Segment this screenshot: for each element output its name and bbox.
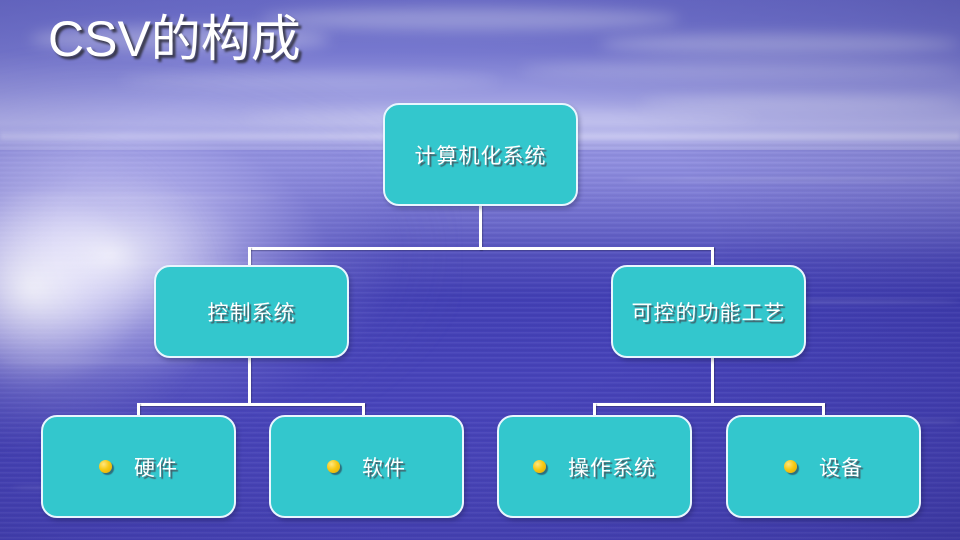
- bullet-dot-icon: [327, 460, 340, 473]
- bullet-dot-icon: [784, 460, 797, 473]
- bullet-dot-icon: [99, 460, 112, 473]
- node-control-system[interactable]: 控制系统: [154, 265, 349, 358]
- node-control-system-label: 控制系统: [208, 297, 296, 327]
- connector-control-stem: [248, 357, 251, 405]
- node-hardware-content: 硬件: [99, 452, 178, 482]
- connector-process-bus: [593, 403, 825, 406]
- node-equipment-label: 设备: [819, 452, 863, 482]
- node-hardware[interactable]: 硬件: [41, 415, 236, 518]
- node-operating-system-label: 操作系统: [568, 452, 656, 482]
- connector-process-stem: [711, 357, 714, 405]
- node-equipment-content: 设备: [784, 452, 863, 482]
- node-operating-system-content: 操作系统: [533, 452, 656, 482]
- page-title: CSV的构成: [48, 8, 301, 70]
- connector-control-bus: [137, 403, 365, 406]
- node-software-label: 软件: [362, 452, 406, 482]
- node-root[interactable]: 计算机化系统: [383, 103, 578, 206]
- node-software-content: 软件: [327, 452, 406, 482]
- node-operating-system[interactable]: 操作系统: [497, 415, 692, 518]
- node-software[interactable]: 软件: [269, 415, 464, 518]
- node-root-label: 计算机化系统: [415, 140, 547, 170]
- connector-root-stem: [479, 205, 482, 250]
- slide: CSV的构成 计算机化系统 控制系统 可控的功能工艺 硬件 软件: [0, 0, 960, 540]
- bullet-dot-icon: [533, 460, 546, 473]
- node-controlled-process-label: 可控的功能工艺: [632, 297, 786, 327]
- connector-level2-bus: [248, 247, 714, 250]
- node-equipment[interactable]: 设备: [726, 415, 921, 518]
- node-hardware-label: 硬件: [134, 452, 178, 482]
- node-controlled-process[interactable]: 可控的功能工艺: [611, 265, 806, 358]
